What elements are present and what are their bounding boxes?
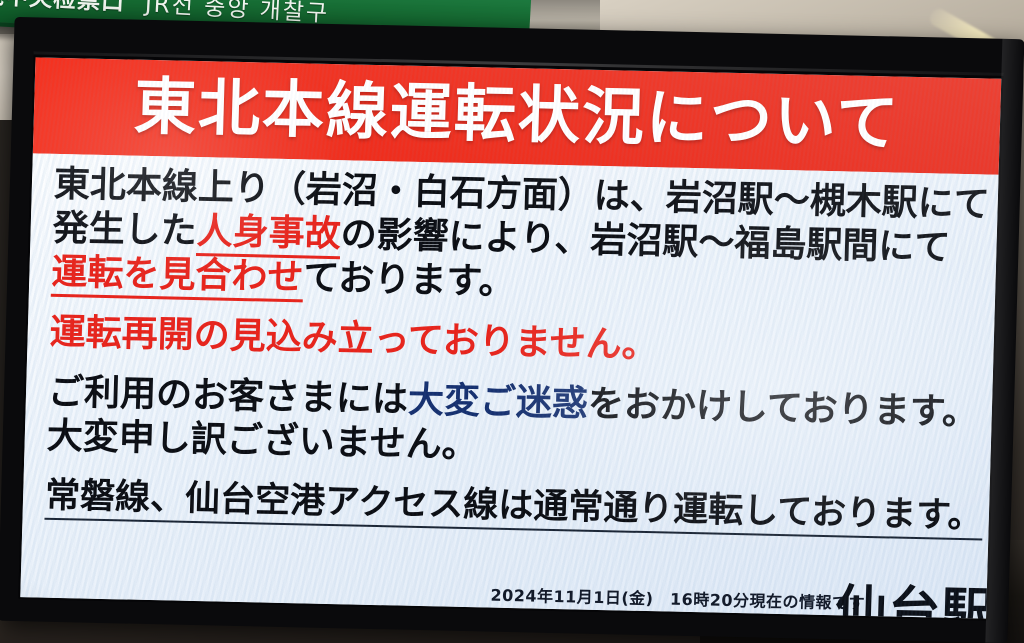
suspension-highlight: 運転を見合わせ <box>51 252 304 303</box>
notice-body: 東北本線上り（岩沼・白石方面）は、岩沼駅〜槻木駅にて 発生した人身事故の影響によ… <box>20 153 998 618</box>
display-screen: 東北本線運転状況について 東北本線上り（岩沼・白石方面）は、岩沼駅〜槻木駅にて … <box>20 57 1001 618</box>
apology-prefix: ご利用のお客さまには <box>47 372 408 421</box>
station-scene: R线中央检票口JR선 중앙 개찰구 東北本線運転状況について 東北本線上り（岩沼… <box>0 0 1024 643</box>
accident-cause-highlight: 人身事故 <box>196 211 341 259</box>
notice-line-3: 運転を見合わせております。 <box>51 252 515 305</box>
apology-line-2-text: 大変申し訳ございません。 <box>46 416 478 467</box>
inconvenience-highlight: 大変ご迷惑 <box>407 380 588 425</box>
no-resumption-estimate-line: 運転再開の見込み立っておりません。 <box>49 312 658 368</box>
station-sign-text-zh: R线中央检票口 <box>0 0 126 16</box>
page-title: 東北本線運転状況について <box>133 76 901 155</box>
no-resumption-estimate-text: 運転再開の見込み立っておりません。 <box>49 312 658 366</box>
normal-operation-line: 常磐線、仙台空港アクセス線は通常通り運転しております。 <box>45 476 984 538</box>
apology-suffix: をおかけしております。 <box>587 384 978 434</box>
apology-line-2: 大変申し訳ございません。 <box>46 416 478 468</box>
notice-line-3-suffix: ております。 <box>303 257 515 303</box>
station-name-label: 仙台駅 <box>834 567 995 618</box>
information-display-monitor: 東北本線運転状況について 東北本線上り（岩沼・白石方面）は、岩沼駅〜槻木駅にて … <box>0 17 1024 643</box>
normal-operation-text: 常磐線、仙台空港アクセス線は通常通り運転しております。 <box>44 476 983 541</box>
notice-line-2-prefix: 発生した <box>52 208 197 252</box>
